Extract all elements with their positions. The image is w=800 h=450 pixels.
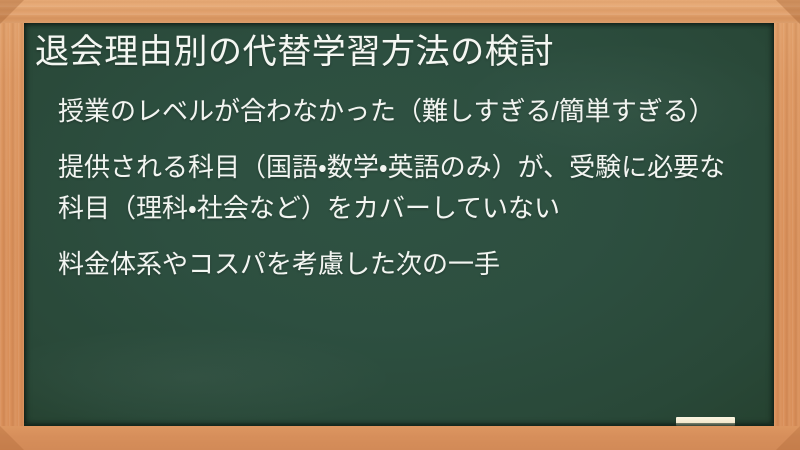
board-bottom-lip <box>24 423 774 426</box>
frame-rail-bottom <box>0 426 800 450</box>
frame-rail-top <box>0 0 800 23</box>
bullet-item-2: 提供される科目（国語・数学・英語のみ）が、受験に必要な科目（理科・社会など）をカ… <box>58 147 748 228</box>
bullet-item-1: 授業のレベルが合わなかった（難しすぎる/簡単すぎる） <box>58 91 748 132</box>
chalkboard-slide: 退会理由別の代替学習方法の検討 授業のレベルが合わなかった（難しすぎる/簡単すぎ… <box>0 0 800 450</box>
slide-title: 退会理由別の代替学習方法の検討 <box>35 31 748 75</box>
slide-content: 退会理由別の代替学習方法の検討 授業のレベルが合わなかった（難しすぎる/簡単すぎ… <box>24 23 774 426</box>
bullet-list: 授業のレベルが合わなかった（難しすぎる/簡単すぎる） 提供される科目（国語・数学… <box>35 91 748 285</box>
chalkboard-surface: 退会理由別の代替学習方法の検討 授業のレベルが合わなかった（難しすぎる/簡単すぎ… <box>24 23 774 426</box>
bullet-item-3: 料金体系やコスパを考慮した次の一手 <box>58 244 748 285</box>
